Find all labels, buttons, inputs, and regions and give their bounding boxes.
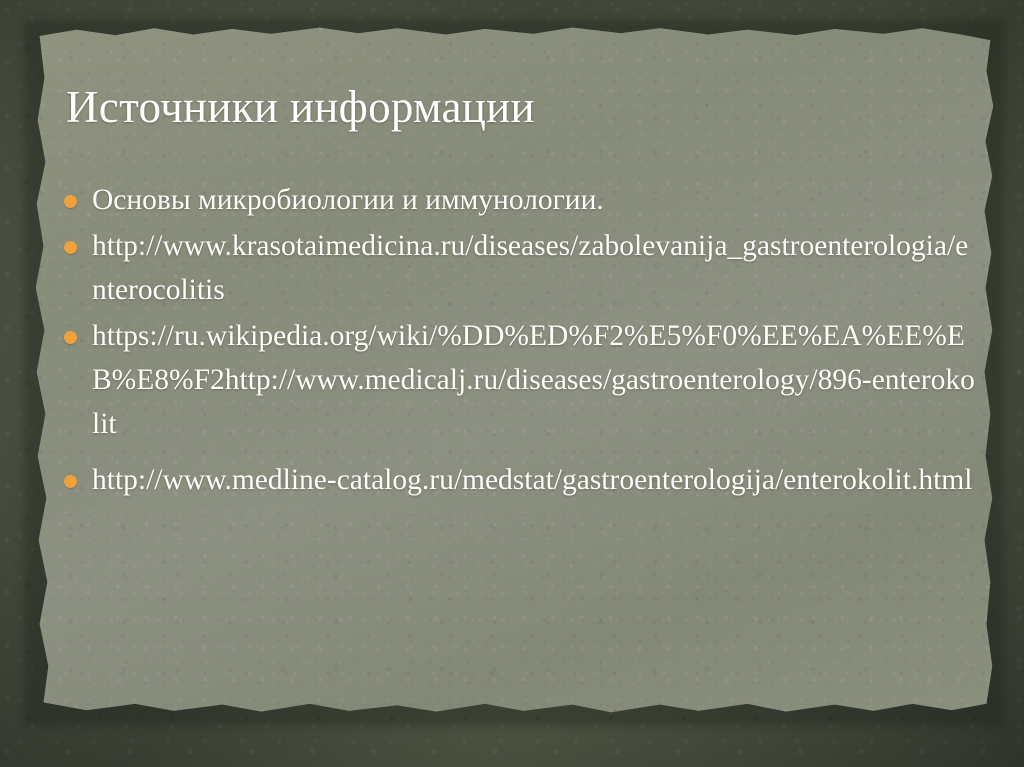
presentation-slide: Источники информации Основы микробиологи… xyxy=(0,0,1024,767)
list-item: http://www.krasotaimedicina.ru/diseases/… xyxy=(58,224,978,312)
list-item: Основы микробиологии и иммунологии. xyxy=(58,178,978,222)
list-item-label[interactable]: http://www.krasotaimedicina.ru/diseases/… xyxy=(92,224,978,312)
list-item: https://ru.wikipedia.org/wiki/%DD%ED%F2%… xyxy=(58,314,978,446)
bullet-dot-icon xyxy=(64,475,77,488)
bullet-dot-icon xyxy=(64,241,77,254)
bullet-dot-icon xyxy=(64,195,77,208)
bullet-dot-icon xyxy=(64,331,77,344)
sources-list: Основы микробиологии и иммунологии. http… xyxy=(58,178,978,504)
list-item-label[interactable]: http://www.medline-catalog.ru/medstat/ga… xyxy=(92,458,978,502)
list-item-label[interactable]: https://ru.wikipedia.org/wiki/%DD%ED%F2%… xyxy=(92,314,978,446)
slide-content: Источники информации Основы микробиологи… xyxy=(0,0,1024,767)
slide-title: Источники информации xyxy=(66,83,535,132)
list-item: http://www.medline-catalog.ru/medstat/ga… xyxy=(58,458,978,502)
list-item-label: Основы микробиологии и иммунологии. xyxy=(92,178,978,222)
